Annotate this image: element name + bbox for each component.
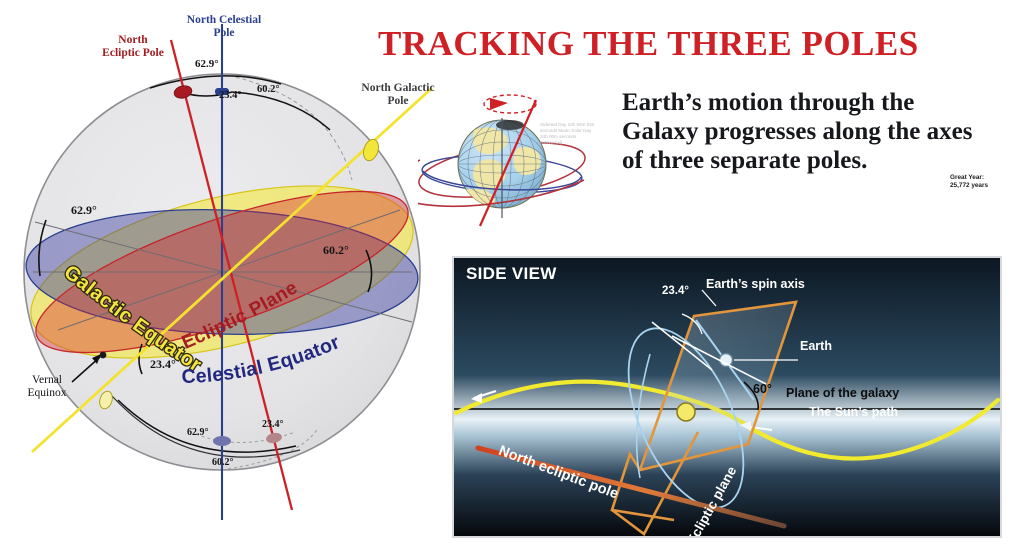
label-plane-of-the-galaxy: Plane of the galaxy: [786, 386, 899, 400]
sun-marker: [677, 403, 695, 421]
great-year-subnote: Sidereal Day 23h 56m 04s seconds Mean So…: [540, 122, 598, 146]
angle-bottom-23-4: 23.4°: [262, 419, 284, 430]
label-ncp-line2: Pole: [213, 27, 234, 39]
label-earth: Earth: [800, 339, 832, 353]
angle-bottom-62-9: 62.9°: [187, 427, 209, 438]
label-nep-line2: Ecliptic Pole: [102, 47, 164, 59]
deck-text: Earth’s motion through the Galaxy progre…: [622, 88, 982, 175]
angle-right-60-2: 60.2°: [323, 243, 349, 258]
label-earth-spin-axis: Earth’s spin axis: [706, 277, 805, 291]
label-north-celestial-pole: North Celestial Pole: [178, 14, 270, 40]
great-year-line2: 25,772 years: [950, 182, 988, 189]
label-the-suns-path: The Sun’s path: [809, 405, 898, 419]
great-year-line1: Great Year:: [950, 174, 984, 181]
side-angle-23-4: 23.4°: [662, 285, 689, 297]
angle-top-60-2: 60.2°: [257, 84, 280, 95]
label-nep-line1: North: [118, 34, 147, 46]
infographic-root: TRACKING THE THREE POLES Earth’s motion …: [0, 0, 1030, 559]
label-ve-line1: Vernal: [32, 374, 62, 386]
label-ngp-line2: Pole: [387, 95, 408, 107]
precession-globe-inset: Great Year: 25,772 years: [418, 78, 608, 228]
page-title: TRACKING THE THREE POLES: [378, 24, 1018, 64]
celestial-sphere-diagram: Galactic Equator Ecliptic Plane Celestia…: [0, 0, 460, 559]
label-ve-line2: Equinox: [28, 387, 67, 399]
globe-north-cap: [496, 120, 524, 130]
angle-center-23-4: 23.4°: [150, 357, 176, 372]
label-vernal-equinox: Vernal Equinox: [16, 374, 78, 400]
side-view-title: SIDE VIEW: [466, 264, 557, 284]
angle-bottom-60-2: 60.2°: [212, 457, 234, 468]
angle-top-23-4: 23.4°: [219, 90, 242, 101]
south-celestial-pole-marker: [213, 436, 231, 446]
vernal-equinox-point: [100, 352, 107, 359]
great-year-label: Great Year: 25,772 years: [950, 174, 1016, 190]
side-view-panel: North ecliptic pole Ecliptic plane: [452, 256, 1002, 538]
angle-top-62-9: 62.9°: [195, 58, 219, 70]
precession-arrowhead: [490, 98, 508, 110]
label-ncp-line1: North Celestial: [187, 14, 261, 26]
side-angle-60: 60°: [753, 382, 772, 396]
earth-marker: [720, 354, 733, 367]
angle-left-62-9: 62.9°: [71, 203, 97, 218]
label-north-ecliptic-pole: North Ecliptic Pole: [88, 34, 178, 60]
